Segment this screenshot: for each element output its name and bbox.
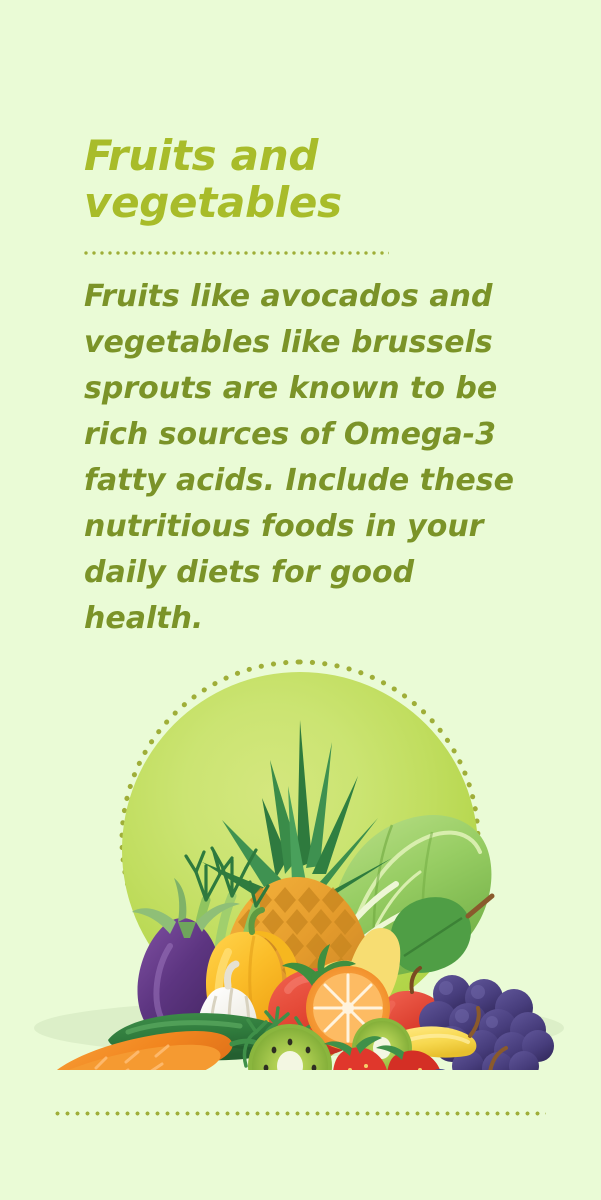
bottom-dotted-divider <box>55 1111 546 1116</box>
grape-leaf <box>390 896 492 973</box>
poster-card: Fruits and vegetables Fruits like avocad… <box>0 0 601 1200</box>
page-title: Fruits and vegetables <box>84 132 504 226</box>
produce-pile <box>0 600 601 1070</box>
body-paragraph: Fruits like avocados and vegetables like… <box>84 274 536 642</box>
title-dotted-divider <box>84 251 389 255</box>
